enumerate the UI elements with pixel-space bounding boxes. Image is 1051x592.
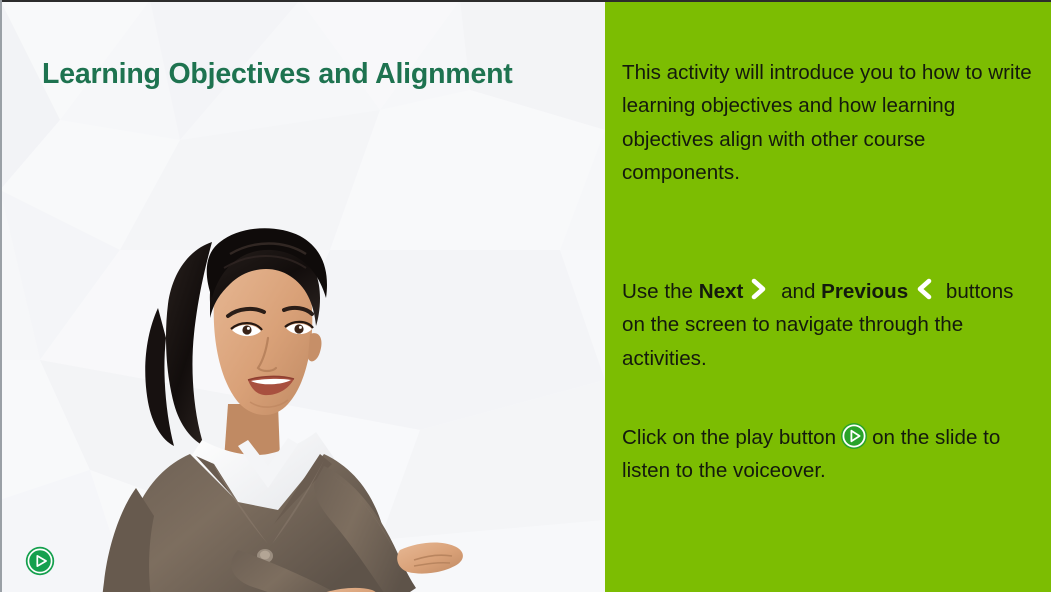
play-button[interactable] [25,546,55,576]
intro-paragraph-text: This activity will introduce you to how … [622,61,1032,184]
intro-paragraph: This activity will introduce you to how … [622,56,1039,189]
chevron-left-icon[interactable] [911,276,937,302]
slide-left-border [0,0,2,592]
nav-text-before-next: Use the [622,280,699,303]
elearning-slide: Learning Objectives and Alignment [0,0,1051,592]
nav-text-between: and [775,280,821,303]
navigation-paragraph: Use the Next and Previous buttons on the… [622,275,1039,375]
slide-top-border [0,0,1051,2]
play-circle-icon[interactable] [840,422,868,450]
chevron-right-icon[interactable] [746,276,772,302]
page-title: Learning Objectives and Alignment [42,58,582,91]
next-label: Next [699,280,744,303]
instructions-panel: This activity will introduce you to how … [605,0,1051,592]
presenter-photo [62,158,482,592]
voiceover-paragraph: Click on the play button on the slide to… [622,421,1039,488]
left-content-panel: Learning Objectives and Alignment [0,0,605,592]
voiceover-text-before: Click on the play button [622,426,836,449]
previous-label: Previous [821,280,908,303]
